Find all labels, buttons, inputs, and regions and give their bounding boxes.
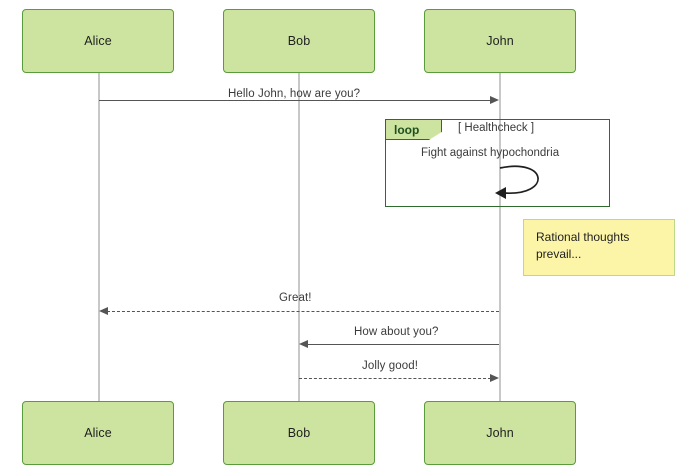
- message-label-jolly-good: Jolly good!: [362, 360, 418, 372]
- message-line-how-about-you: [307, 344, 499, 345]
- self-message-loop-icon: [490, 160, 570, 205]
- loop-fragment-condition: [ Healthcheck ]: [458, 122, 534, 134]
- message-label-great: Great!: [279, 292, 312, 304]
- participant-label-alice-top: Alice: [84, 34, 112, 48]
- message-arrowhead-how-about-you: [299, 340, 308, 348]
- participant-box-alice-bottom[interactable]: Alice: [22, 401, 174, 465]
- message-label-how-about-you: How about you?: [354, 326, 439, 338]
- message-arrowhead-great: [99, 307, 108, 315]
- participant-box-bob-top[interactable]: Bob: [223, 9, 375, 73]
- note-line-1: Rational thoughts: [536, 229, 662, 246]
- loop-fragment-tag-label: loop: [394, 123, 419, 137]
- note-rational-thoughts[interactable]: Rational thoughts prevail...: [523, 219, 675, 276]
- message-arrowhead-jolly-good: [490, 374, 499, 382]
- lifeline-bob: [298, 73, 300, 401]
- participant-label-john-top: John: [486, 34, 514, 48]
- participant-box-john-top[interactable]: John: [424, 9, 576, 73]
- sequence-diagram-canvas: Alice Bob John Hello John, how are you? …: [0, 0, 690, 474]
- loop-fragment-tag: loop: [386, 120, 442, 140]
- participant-box-alice-top[interactable]: Alice: [22, 9, 174, 73]
- message-line-hello-john: [99, 100, 491, 101]
- participant-label-bob-bottom: Bob: [288, 426, 311, 440]
- participant-box-bob-bottom[interactable]: Bob: [223, 401, 375, 465]
- message-line-jolly-good: [299, 378, 491, 379]
- participant-label-john-bottom: John: [486, 426, 514, 440]
- lifeline-alice: [98, 73, 100, 401]
- message-line-great: [107, 311, 499, 312]
- loop-fragment-body-label: Fight against hypochondria: [421, 147, 559, 159]
- participant-label-bob-top: Bob: [288, 34, 311, 48]
- message-arrowhead-hello-john: [490, 96, 499, 104]
- participant-box-john-bottom[interactable]: John: [424, 401, 576, 465]
- message-label-hello-john: Hello John, how are you?: [228, 88, 360, 100]
- note-line-2: prevail...: [536, 246, 662, 263]
- participant-label-alice-bottom: Alice: [84, 426, 112, 440]
